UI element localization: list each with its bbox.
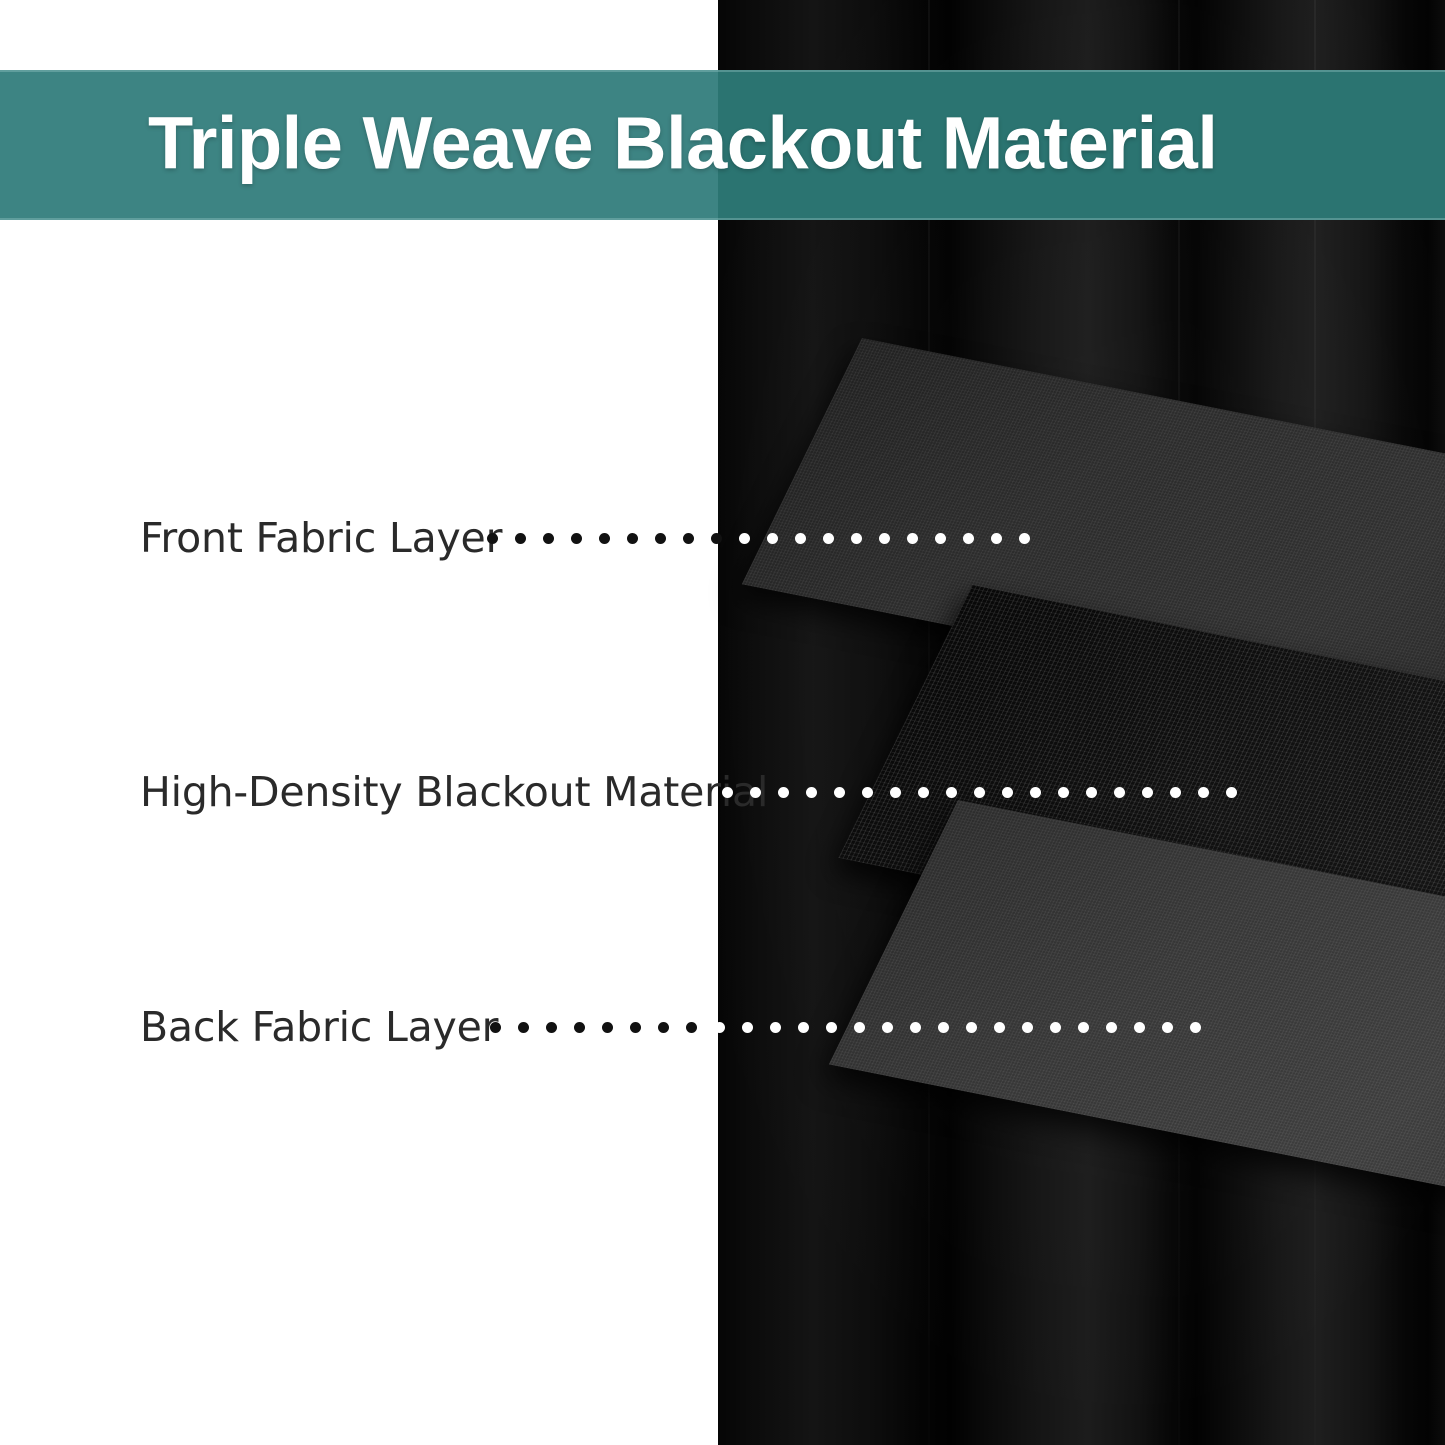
leader-dot: [1134, 1022, 1145, 1033]
leader-dot: [487, 533, 498, 544]
leader-dot: [1142, 787, 1153, 798]
leader-dot: [627, 533, 638, 544]
leader-dot: [798, 1022, 809, 1033]
leader-dot: [490, 1022, 501, 1033]
leader-dot: [963, 533, 974, 544]
leader-dot: [1002, 787, 1013, 798]
leader-dot: [834, 787, 845, 798]
page-title: Triple Weave Blackout Material: [148, 107, 1217, 181]
leader-dot: [1198, 787, 1209, 798]
leader-dot: [739, 533, 750, 544]
leader-dot: [938, 1022, 949, 1033]
leader-dot: [795, 533, 806, 544]
leader-dot: [778, 787, 789, 798]
leader-dot: [890, 787, 901, 798]
leader-dot: [711, 533, 722, 544]
callout-high-density-blackout-material: High-Density Blackout Material: [140, 762, 768, 822]
leader-dot: [1022, 1022, 1033, 1033]
leader-line-back: [490, 1022, 1207, 1033]
leader-dot: [862, 787, 873, 798]
leader-dot: [966, 1022, 977, 1033]
leader-dot: [974, 787, 985, 798]
leader-dot: [1019, 533, 1030, 544]
callout-front-fabric-layer: Front Fabric Layer: [140, 508, 502, 568]
leader-dot: [722, 787, 733, 798]
leader-dot: [994, 1022, 1005, 1033]
product-infographic: Triple Weave Blackout Material Front Fab…: [0, 0, 1445, 1445]
leader-dot: [935, 533, 946, 544]
leader-dot: [854, 1022, 865, 1033]
leader-dot: [750, 787, 761, 798]
leader-dot: [882, 1022, 893, 1033]
leader-dot: [1170, 787, 1181, 798]
leader-dot: [907, 533, 918, 544]
leader-dot: [1050, 1022, 1061, 1033]
banner-bottom-edge: [0, 218, 1445, 220]
leader-line-core: [722, 787, 1263, 798]
leader-dot: [1114, 787, 1125, 798]
leader-dot: [658, 1022, 669, 1033]
callout-label: Front Fabric Layer: [140, 518, 502, 559]
header-banner: Triple Weave Blackout Material: [0, 70, 1445, 220]
leader-dot: [714, 1022, 725, 1033]
leader-dot: [767, 533, 778, 544]
leader-dot: [806, 787, 817, 798]
leader-dot: [571, 533, 582, 544]
leader-dot: [770, 1022, 781, 1033]
leader-dot: [946, 787, 957, 798]
leader-dot: [1226, 787, 1237, 798]
callout-back-fabric-layer: Back Fabric Layer: [140, 997, 498, 1057]
leader-dot: [742, 1022, 753, 1033]
banner-top-edge: [0, 70, 1445, 72]
leader-dot: [518, 1022, 529, 1033]
callout-label: Back Fabric Layer: [140, 1007, 498, 1048]
leader-dot: [1030, 787, 1041, 798]
leader-dot: [1190, 1022, 1201, 1033]
leader-dot: [515, 533, 526, 544]
leader-dot: [655, 533, 666, 544]
leader-dot: [1078, 1022, 1089, 1033]
leader-dot: [826, 1022, 837, 1033]
leader-dot: [574, 1022, 585, 1033]
leader-dot: [851, 533, 862, 544]
leader-dot: [1086, 787, 1097, 798]
leader-dot: [1058, 787, 1069, 798]
leader-line-front: [487, 533, 1046, 544]
leader-dot: [630, 1022, 641, 1033]
leader-dot: [686, 1022, 697, 1033]
leader-dot: [918, 787, 929, 798]
leader-dot: [879, 533, 890, 544]
leader-dot: [546, 1022, 557, 1033]
leader-dot: [910, 1022, 921, 1033]
leader-dot: [683, 533, 694, 544]
leader-dot: [599, 533, 610, 544]
leader-dot: [1162, 1022, 1173, 1033]
leader-dot: [602, 1022, 613, 1033]
callout-label: High-Density Blackout Material: [140, 772, 768, 813]
leader-dot: [1106, 1022, 1117, 1033]
leader-dot: [543, 533, 554, 544]
leader-dot: [991, 533, 1002, 544]
leader-dot: [823, 533, 834, 544]
